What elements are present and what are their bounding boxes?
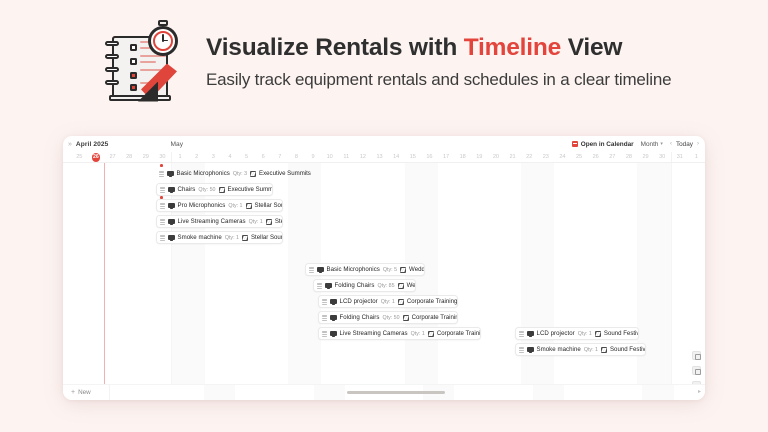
ruler-day[interactable]: 30 — [154, 152, 171, 162]
bar-quantity: Qty: 50 — [383, 315, 400, 321]
view-mode-label: Month — [641, 141, 659, 148]
event-icon — [428, 331, 434, 337]
equipment-icon — [168, 203, 175, 208]
new-record-button[interactable]: + New — [71, 389, 91, 396]
drag-handle-icon[interactable] — [160, 235, 165, 241]
timeline-grid[interactable]: Basic MicrophonicsQty: 3Executive Summit… — [63, 163, 705, 384]
bar-equipment-name: Basic Microphonics — [177, 170, 230, 177]
expand-view-icon[interactable] — [692, 381, 701, 384]
bar-quantity: Qty: 5 — [383, 267, 397, 273]
ruler-day[interactable]: 25 — [571, 152, 588, 162]
ruler-day[interactable]: 9 — [305, 152, 322, 162]
date-nav-group: ‹ Today › — [670, 141, 699, 148]
bar-equipment-name: Folding Chairs — [335, 282, 375, 289]
bar-quantity: Qty: 3 — [233, 171, 247, 177]
drag-handle-icon[interactable] — [317, 283, 322, 289]
equipment-icon — [325, 283, 332, 288]
timeline-bar[interactable]: Basic MicrophonicsQty: 5Wedding — [305, 263, 425, 276]
toolbar-right-controls: Open in Calendar Month ▾ ‹ Today › — [572, 141, 699, 148]
bar-quantity: Qty: 85 — [378, 283, 395, 289]
event-icon — [242, 235, 248, 241]
horizontal-scrollbar-thumb[interactable] — [347, 391, 445, 394]
event-icon — [246, 203, 252, 209]
bar-quantity: Qty: 1 — [578, 331, 592, 337]
timeline-footer: + New ▸ — [63, 384, 705, 400]
ruler-day[interactable]: 1 — [171, 152, 189, 162]
event-icon — [250, 171, 256, 177]
bar-event-name: Corporate Training — [412, 314, 458, 321]
month-label-primary: April 2025 — [76, 141, 109, 148]
open-in-calendar-button[interactable]: Open in Calendar — [572, 141, 634, 148]
event-icon — [601, 347, 607, 353]
grid-column — [171, 163, 189, 384]
bar-quantity: Qty: 1 — [228, 203, 242, 209]
drag-handle-icon[interactable] — [519, 347, 524, 353]
bar-event-name: Corporate Training — [437, 330, 481, 337]
timeline-bar[interactable]: LCD projectorQty: 1Corporate Training — [318, 295, 458, 308]
ruler-day[interactable]: 28 — [621, 152, 638, 162]
bar-event-name: Stellar Sound Event — [255, 202, 283, 209]
bar-event-name: Wedding — [407, 282, 416, 289]
bar-equipment-name: Smoke machine — [178, 234, 222, 241]
bar-event-name: Stellar Sound Event — [251, 234, 283, 241]
ruler-day[interactable]: 15 — [405, 152, 422, 162]
ruler-day[interactable]: 16 — [421, 152, 438, 162]
grid-column — [104, 163, 121, 384]
grid-column — [272, 163, 289, 384]
ruler-day[interactable]: 22 — [521, 152, 538, 162]
hero-title-accent: Timeline — [464, 34, 561, 61]
ruler-day[interactable]: 27 — [104, 152, 121, 162]
drag-handle-icon[interactable] — [159, 171, 164, 177]
bar-event-name: Wedding — [409, 266, 425, 273]
bar-equipment-name: Live Streaming Cameras — [340, 330, 408, 337]
timeline-bar[interactable]: LCD projectorQty: 1Sound Festival — [515, 327, 639, 340]
ruler-day[interactable]: 4 — [222, 152, 239, 162]
drag-handle-icon[interactable] — [160, 203, 165, 209]
ruler-day[interactable]: 23 — [538, 152, 555, 162]
event-icon — [266, 219, 272, 225]
hero-title-pre: Visualize Rentals with — [206, 34, 464, 61]
today-marker-line — [104, 163, 105, 384]
event-icon — [403, 315, 409, 321]
drag-handle-icon[interactable] — [322, 299, 327, 305]
hero-banner: Visualize Rentals with Timeline View Eas… — [0, 0, 768, 125]
timeline-bar[interactable]: Live Streaming CamerasQty: 1Stellar Soun… — [156, 215, 283, 228]
equipment-icon — [168, 235, 175, 240]
open-in-calendar-label: Open in Calendar — [581, 141, 634, 148]
zoom-preset-icon[interactable] — [692, 351, 701, 360]
grid-column — [205, 163, 222, 384]
event-icon — [219, 187, 225, 193]
ruler-day[interactable]: 1 — [688, 152, 705, 162]
hero-illustration-icon — [104, 20, 190, 106]
bar-quantity: Qty: 1 — [381, 299, 395, 305]
bar-quantity: Qty: 1 — [249, 219, 263, 225]
grid-column — [654, 163, 671, 384]
bar-quantity: Qty: 1 — [225, 235, 239, 241]
new-record-label: New — [78, 389, 91, 396]
ruler-day[interactable]: 27 — [604, 152, 621, 162]
drag-handle-icon[interactable] — [519, 331, 524, 337]
ruler-day[interactable]: 18 — [454, 152, 471, 162]
grid-column — [671, 163, 689, 384]
bar-equipment-name: Chairs — [178, 186, 196, 193]
next-period-button[interactable]: › — [697, 141, 699, 147]
drag-handle-icon[interactable] — [160, 219, 165, 225]
grid-column — [71, 163, 88, 384]
grid-column — [255, 163, 272, 384]
equipment-icon — [168, 219, 175, 224]
ruler-day[interactable]: 10 — [321, 152, 338, 162]
timeline-toolbar: » April 2025 May Open in Calendar Month … — [63, 136, 705, 152]
grid-column — [488, 163, 505, 384]
ruler-day[interactable]: 14 — [388, 152, 405, 162]
chevron-down-icon: ▾ — [660, 141, 663, 147]
grid-column — [138, 163, 155, 384]
timeline-bar[interactable]: Folding ChairsQty: 85Wedding — [313, 279, 416, 292]
equipment-icon — [330, 315, 337, 320]
bar-quantity: Qty: 1 — [584, 347, 598, 353]
month-label-secondary: May — [170, 141, 183, 148]
grid-column — [88, 163, 105, 384]
ruler-day[interactable]: 25 — [71, 152, 88, 162]
horizontal-scrollbar[interactable] — [110, 391, 691, 394]
ruler-day[interactable]: 24 — [554, 152, 571, 162]
bar-equipment-name: Smoke machine — [537, 346, 581, 353]
fit-view-icon[interactable] — [692, 366, 701, 375]
grid-column — [288, 163, 305, 384]
equipment-icon — [317, 267, 324, 272]
bar-quantity: Qty: 1 — [411, 331, 425, 337]
timeline-bar[interactable]: Live Streaming CamerasQty: 1Corporate Tr… — [318, 327, 481, 340]
equipment-icon — [167, 171, 174, 176]
calendar-icon — [572, 141, 578, 147]
today-button[interactable]: Today — [676, 141, 693, 148]
grid-column — [121, 163, 138, 384]
grid-column — [222, 163, 239, 384]
timeline-bar[interactable]: Pro MicrophonicsQty: 1Stellar Sound Even… — [156, 199, 283, 212]
bar-equipment-name: Basic Microphonics — [327, 266, 380, 273]
equipment-icon — [527, 347, 534, 352]
bar-event-name: Stellar Sound Event — [275, 218, 283, 225]
prev-period-button[interactable]: ‹ — [670, 141, 672, 147]
grid-column — [454, 163, 471, 384]
hero-subtitle: Easily track equipment rentals and sched… — [206, 68, 671, 92]
bar-equipment-name: Folding Chairs — [340, 314, 380, 321]
ruler-day[interactable]: 8 — [288, 152, 305, 162]
today-pill: 26 — [92, 153, 101, 162]
ruler-day[interactable]: 3 — [205, 152, 222, 162]
timeline-bar[interactable]: Basic MicrophonicsQty: 3Executive Summit… — [156, 167, 318, 180]
bar-event-name: Corporate Training — [407, 298, 457, 305]
ruler-day[interactable]: 26 — [88, 152, 105, 162]
date-ruler: 2526272829301234567891011121314151617181… — [63, 152, 705, 163]
ruler-day[interactable]: 21 — [504, 152, 521, 162]
timeline-bar[interactable]: Folding ChairsQty: 50Corporate Training — [318, 311, 458, 324]
hero-title: Visualize Rentals with Timeline View — [206, 33, 671, 63]
timeline-bar[interactable]: Smoke machineQty: 1Stellar Sound Event — [156, 231, 283, 244]
grid-column — [188, 163, 205, 384]
ruler-day[interactable]: 30 — [654, 152, 671, 162]
ruler-gutter — [63, 152, 71, 162]
timeline-side-rail — [692, 351, 701, 384]
bar-event-name: Sound Festival — [610, 346, 646, 353]
grid-column — [471, 163, 488, 384]
hero-title-post: View — [561, 34, 622, 61]
ruler-day[interactable]: 13 — [371, 152, 388, 162]
ruler-day[interactable]: 5 — [238, 152, 255, 162]
ruler-day[interactable]: 29 — [138, 152, 155, 162]
ruler-day[interactable]: 11 — [338, 152, 355, 162]
bar-quantity: Qty: 50 — [198, 187, 215, 193]
equipment-icon — [168, 187, 175, 192]
event-icon — [400, 267, 406, 273]
ruler-day[interactable]: 26 — [587, 152, 604, 162]
ruler-day[interactable]: 17 — [438, 152, 455, 162]
plus-icon: + — [71, 389, 75, 396]
bar-equipment-name: LCD projector — [340, 298, 378, 305]
timeline-bar[interactable]: Smoke machineQty: 1Sound Festival — [515, 343, 646, 356]
chevrons-right-icon[interactable]: » — [68, 141, 72, 148]
ruler-day[interactable]: 7 — [272, 152, 289, 162]
drag-handle-icon[interactable] — [160, 187, 165, 193]
drag-handle-icon[interactable] — [322, 331, 327, 337]
ruler-day[interactable]: 19 — [471, 152, 488, 162]
ruler-day[interactable]: 20 — [488, 152, 505, 162]
ruler-day[interactable]: 28 — [121, 152, 138, 162]
event-icon — [595, 331, 601, 337]
ruler-day[interactable]: 29 — [637, 152, 654, 162]
ruler-day[interactable]: 12 — [355, 152, 372, 162]
scroll-right-arrow-icon[interactable]: ▸ — [698, 389, 701, 395]
bar-event-name: Executive Summits — [228, 186, 274, 193]
bar-event-name: Sound Festival — [604, 330, 639, 337]
bar-equipment-name: Live Streaming Cameras — [178, 218, 246, 225]
drag-handle-icon[interactable] — [322, 315, 327, 321]
drag-handle-icon[interactable] — [309, 267, 314, 273]
view-mode-select[interactable]: Month ▾ — [641, 141, 663, 148]
grid-column — [238, 163, 255, 384]
equipment-icon — [330, 331, 337, 336]
grid-column — [438, 163, 455, 384]
ruler-day-list: 2526272829301234567891011121314151617181… — [71, 152, 705, 162]
timeline-bar[interactable]: ChairsQty: 50Executive Summits — [156, 183, 273, 196]
bar-equipment-name: LCD projector — [537, 330, 575, 337]
event-icon — [398, 299, 404, 305]
ruler-day[interactable]: 6 — [255, 152, 272, 162]
timeline-app-window: » April 2025 May Open in Calendar Month … — [63, 136, 705, 400]
equipment-icon — [330, 299, 337, 304]
event-icon — [398, 283, 404, 289]
bar-equipment-name: Pro Microphonics — [178, 202, 226, 209]
equipment-icon — [527, 331, 534, 336]
ruler-day[interactable]: 2 — [188, 152, 205, 162]
ruler-day[interactable]: 31 — [671, 152, 689, 162]
bar-event-name: Executive Summits — [259, 170, 311, 177]
